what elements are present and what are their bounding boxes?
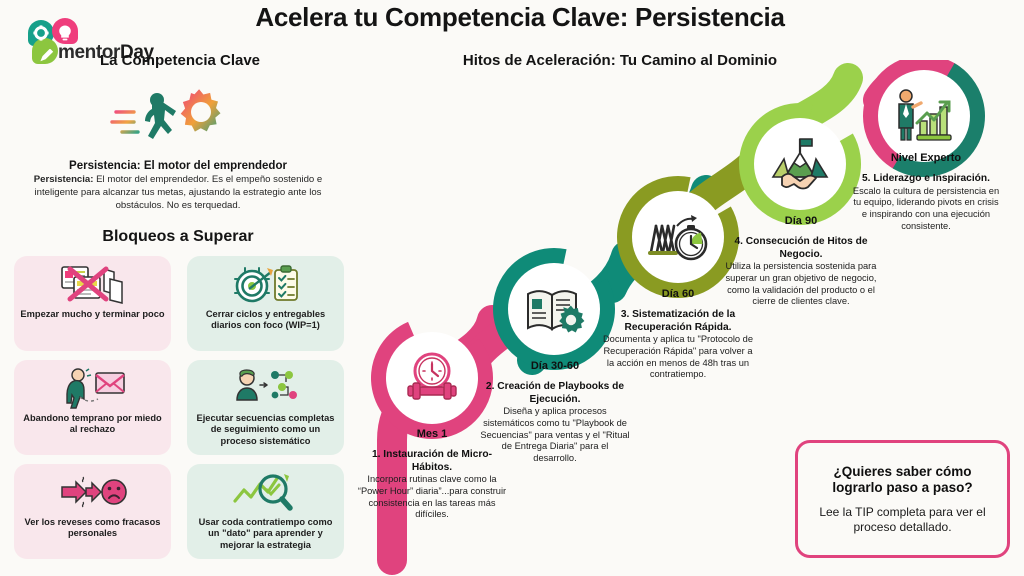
- block-card-4[interactable]: Ver los reveses como fracasos personales: [14, 464, 171, 559]
- milestone-body-3: Documenta y aplica tu "Protocolo de Recu…: [602, 334, 754, 381]
- block-card-5[interactable]: Usar coda contratiempo como un "dato" pa…: [187, 464, 344, 559]
- arrows-sad-face-icon: [58, 470, 128, 516]
- milestone-body-5: Escalo la cultura de persistencia en tu …: [850, 186, 1002, 233]
- milestone-node-4[interactable]: [754, 118, 846, 210]
- blocks-card-grid: Empezar mucho y terminar poco: [14, 256, 344, 559]
- cta-heading: ¿Quieres saber cómo lograrlo paso a paso…: [808, 464, 997, 496]
- milestone-heading-5: 5. Liderazgo e Inspiración.: [850, 173, 1002, 186]
- milestone-node-3[interactable]: [632, 191, 724, 283]
- infographic-page: mentorDay Acelera tu Competencia Clave: …: [0, 0, 1024, 576]
- milestone-body-1: Incorpora rutinas clave como la “Power H…: [356, 474, 508, 521]
- milestone-node-1[interactable]: [386, 332, 478, 424]
- hero-body-lead: Persistencia:: [34, 174, 94, 185]
- magnifier-growth-chart-icon: [231, 470, 301, 516]
- block-card-0[interactable]: Empezar mucho y terminar poco: [14, 256, 171, 351]
- block-card-label-5: Usar coda contratiempo como un "dato" pa…: [193, 517, 338, 551]
- milestone-heading-4: 4. Consecución de Hitos de Negocio.: [725, 236, 877, 261]
- milestone-body-2: Diseña y aplica procesos sistemáticos co…: [479, 406, 631, 465]
- hero-heading: Persistencia: El motor del emprendedor: [18, 160, 338, 172]
- cta-body: Lee la TIP completa para ver el proceso …: [808, 505, 997, 534]
- mountain-flag-handshake-icon: [769, 133, 831, 195]
- spring-stopwatch-icon: [647, 206, 709, 268]
- crossed-out-documents-icon: [58, 262, 128, 308]
- page-title: Acelera tu Competencia Clave: Persistenc…: [170, 2, 870, 33]
- presenter-bar-chart-icon: [893, 85, 955, 147]
- milestone-text-5: Nivel Experto 5. Liderazgo e Inspiración…: [850, 152, 1002, 232]
- milestone-node-5[interactable]: [878, 70, 970, 162]
- block-card-label-2: Abandono temprano por miedo al rechazo: [20, 413, 165, 436]
- milestone-node-2[interactable]: [508, 263, 600, 355]
- book-gear-icon: [523, 278, 585, 340]
- block-card-label-3: Ejecutar secuencias completas de seguimi…: [193, 413, 338, 447]
- blocks-section-title: Bloqueos a Superar: [18, 228, 338, 246]
- milestone-body-4: Utiliza la persistencia sostenida para s…: [725, 261, 877, 308]
- hero-body: Persistencia: El motor del emprendedor. …: [22, 174, 334, 212]
- milestone-heading-2: 2. Creación de Playbooks de Ejecución.: [479, 381, 631, 406]
- cta-box[interactable]: ¿Quieres saber cómo lograrlo paso a paso…: [795, 440, 1010, 558]
- clock-dumbbell-icon: [401, 347, 463, 409]
- left-column-title: La Competencia Clave: [25, 52, 335, 69]
- block-card-label-4: Ver los reveses como fracasos personales: [20, 517, 165, 540]
- person-fear-envelope-icon: [58, 366, 128, 412]
- block-card-3[interactable]: Ejecutar secuencias completas de seguimi…: [187, 360, 344, 455]
- target-checklist-icon: [231, 262, 301, 308]
- block-card-label-1: Cerrar ciclos y entregables diarios con …: [193, 309, 338, 332]
- block-card-2[interactable]: Abandono temprano por miedo al rechazo: [14, 360, 171, 455]
- block-card-1[interactable]: Cerrar ciclos y entregables diarios con …: [187, 256, 344, 351]
- milestone-heading-3: 3. Sistematización de la Recuperación Rá…: [602, 309, 754, 334]
- runner-pushing-gear-icon: [110, 78, 240, 156]
- block-card-label-0: Empezar mucho y terminar poco: [20, 309, 164, 320]
- person-workflow-nodes-icon: [231, 366, 301, 412]
- milestone-day-5: Nivel Experto: [850, 152, 1002, 164]
